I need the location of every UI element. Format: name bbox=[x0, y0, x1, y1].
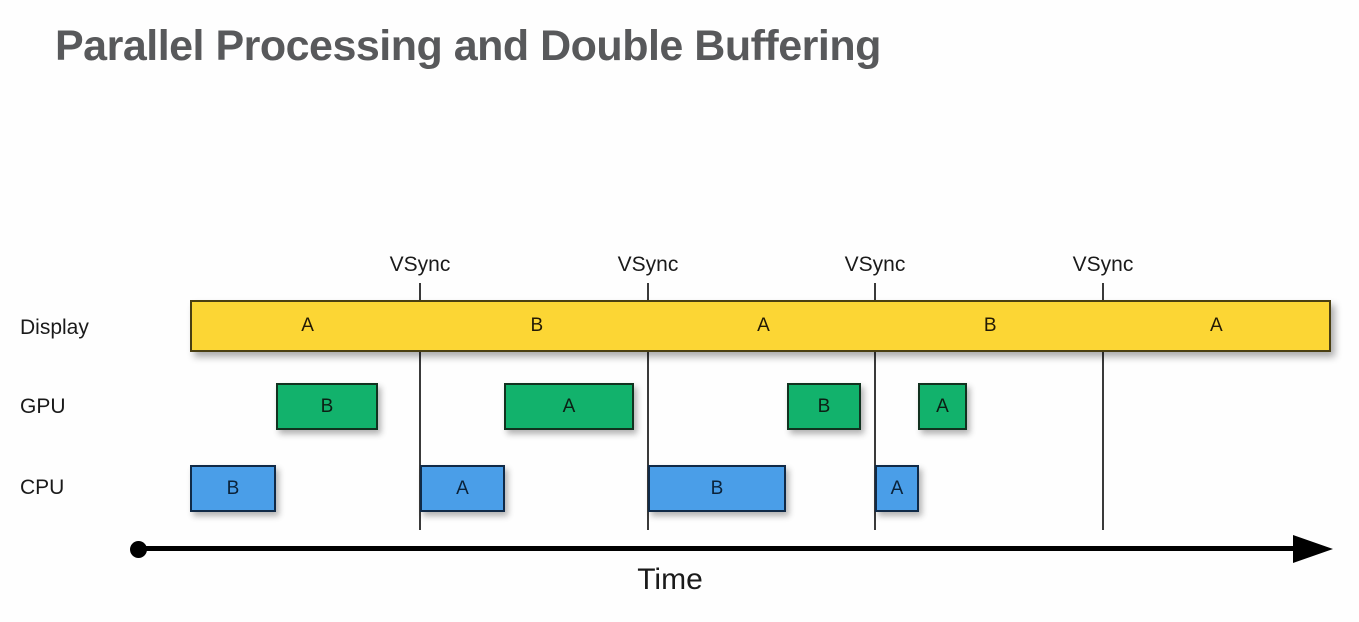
gpu-block-4: A bbox=[918, 383, 967, 430]
cpu-block-1: B bbox=[190, 465, 276, 512]
display-segment-3: A bbox=[650, 302, 876, 350]
display-timeline-bar: ABABA bbox=[190, 300, 1331, 352]
time-axis-line bbox=[138, 546, 1298, 551]
vsync-label-1: VSync bbox=[390, 253, 451, 277]
gpu-block-3: B bbox=[787, 383, 861, 430]
display-segment-5: A bbox=[1104, 302, 1329, 350]
gpu-block-2: A bbox=[504, 383, 634, 430]
slide-canvas: Parallel Processing and Double Buffering… bbox=[0, 0, 1359, 622]
arrow-right-icon bbox=[1293, 535, 1333, 563]
cpu-block-4: A bbox=[875, 465, 919, 512]
vsync-label-4: VSync bbox=[1073, 253, 1134, 277]
time-axis-label: Time bbox=[637, 563, 703, 597]
gpu-block-1: B bbox=[276, 383, 378, 430]
cpu-block-3: B bbox=[648, 465, 786, 512]
row-label-gpu: GPU bbox=[20, 395, 66, 419]
vsync-label-3: VSync bbox=[845, 253, 906, 277]
cpu-block-2: A bbox=[420, 465, 505, 512]
vsync-label-2: VSync bbox=[618, 253, 679, 277]
page-title: Parallel Processing and Double Buffering bbox=[55, 22, 881, 71]
row-label-display: Display bbox=[20, 316, 89, 340]
row-label-cpu: CPU bbox=[20, 476, 64, 500]
display-segment-1: A bbox=[192, 302, 423, 350]
display-segment-4: B bbox=[877, 302, 1104, 350]
display-segment-2: B bbox=[423, 302, 650, 350]
